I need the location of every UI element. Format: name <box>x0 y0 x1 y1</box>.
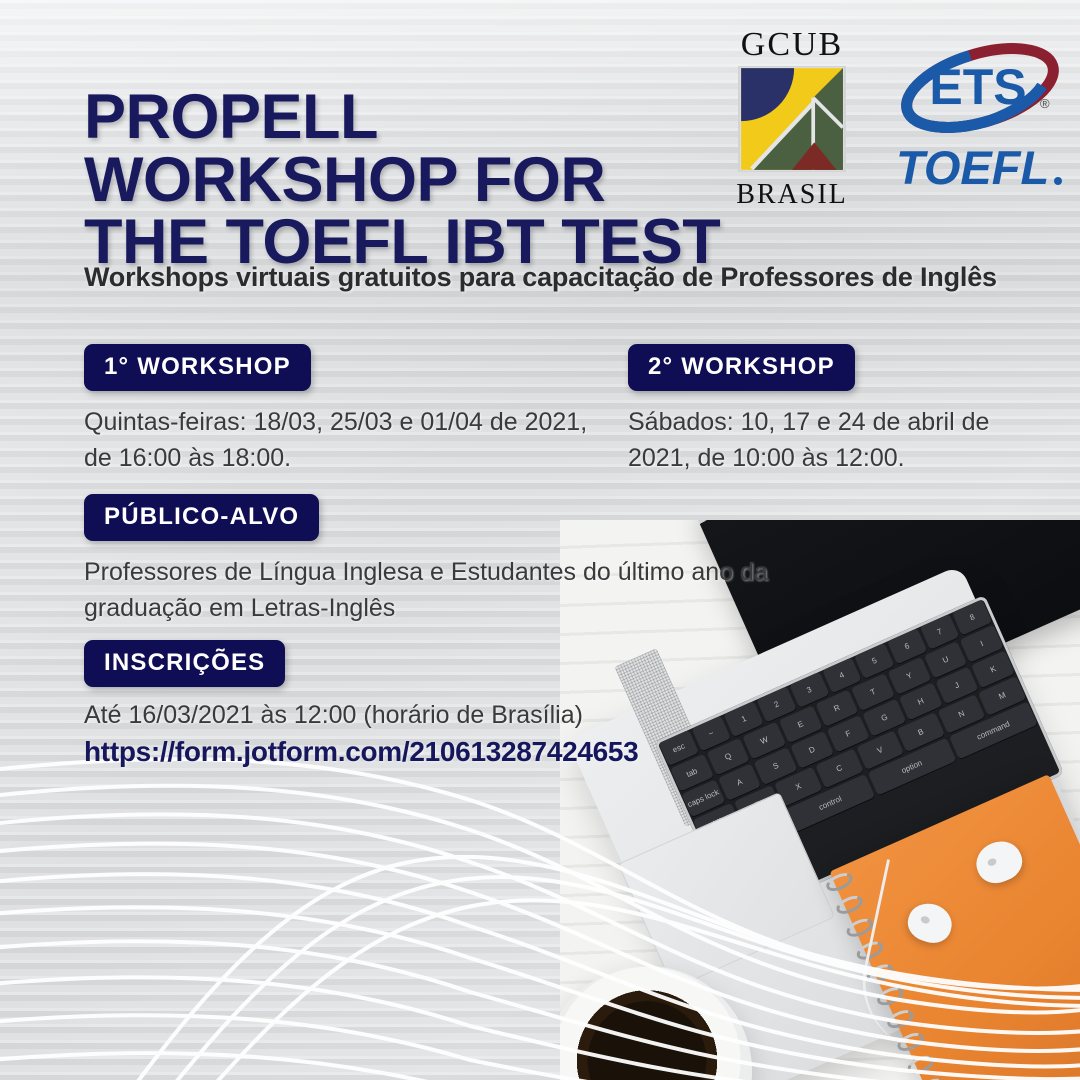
workshop-2-text: Sábados: 10, 17 e 24 de abril de 2021, d… <box>628 405 1058 476</box>
registration-deadline: Até 16/03/2021 às 12:00 (horário de Bras… <box>84 701 724 730</box>
toefl-wordmark-icon: TOEFL <box>890 136 1070 198</box>
toefl-wordmark-text: TOEFL <box>896 141 1049 194</box>
ets-wordmark-text: ETS <box>929 59 1026 115</box>
gcub-emblem-icon <box>738 66 846 172</box>
toefl-trademark-dot <box>1054 177 1062 185</box>
target-audience-badge: PÚBLICO-ALVO <box>84 494 319 541</box>
gcub-wordmark: GCUB <box>716 28 868 62</box>
registration-section: INSCRIÇÕES Até 16/03/2021 às 12:00 (horá… <box>84 640 724 768</box>
ets-logo-icon: ETS ® <box>890 42 1070 138</box>
workshop-1-section: 1° WORKSHOP Quintas-feiras: 18/03, 25/03… <box>84 344 604 476</box>
registration-badge: INSCRIÇÕES <box>84 640 285 687</box>
workshop-1-badge: 1° WORKSHOP <box>84 344 311 391</box>
page-title: PROPELL WORKSHOP FOR THE TOEFL IBT TEST <box>84 86 720 273</box>
title-line-1: PROPELL <box>84 86 720 148</box>
title-line-2: WORKSHOP FOR <box>84 149 720 211</box>
gcub-country-label: BRASIL <box>716 181 868 209</box>
registration-url-link[interactable]: https://form.jotform.com/210613287424653 <box>84 736 724 768</box>
workshop-1-text: Quintas-feiras: 18/03, 25/03 e 01/04 de … <box>84 405 604 476</box>
page-subtitle: Workshops virtuais gratuitos para capaci… <box>84 262 997 293</box>
workshop-2-badge: 2° WORKSHOP <box>628 344 855 391</box>
ets-registered-mark: ® <box>1040 96 1050 111</box>
target-audience-section: PÚBLICO-ALVO Professores de Língua Ingle… <box>84 494 784 626</box>
gcub-logo: GCUB BRASIL <box>716 28 868 209</box>
workshop-2-section: 2° WORKSHOP Sábados: 10, 17 e 24 de abri… <box>628 344 1058 476</box>
poster-canvas: esc ~ 1 2 3 4 5 6 7 8 tab Q W E R T Y U … <box>0 0 1080 1080</box>
target-audience-text: Professores de Língua Inglesa e Estudant… <box>84 555 784 626</box>
ets-toefl-logo: ETS ® TOEFL <box>890 42 1070 198</box>
